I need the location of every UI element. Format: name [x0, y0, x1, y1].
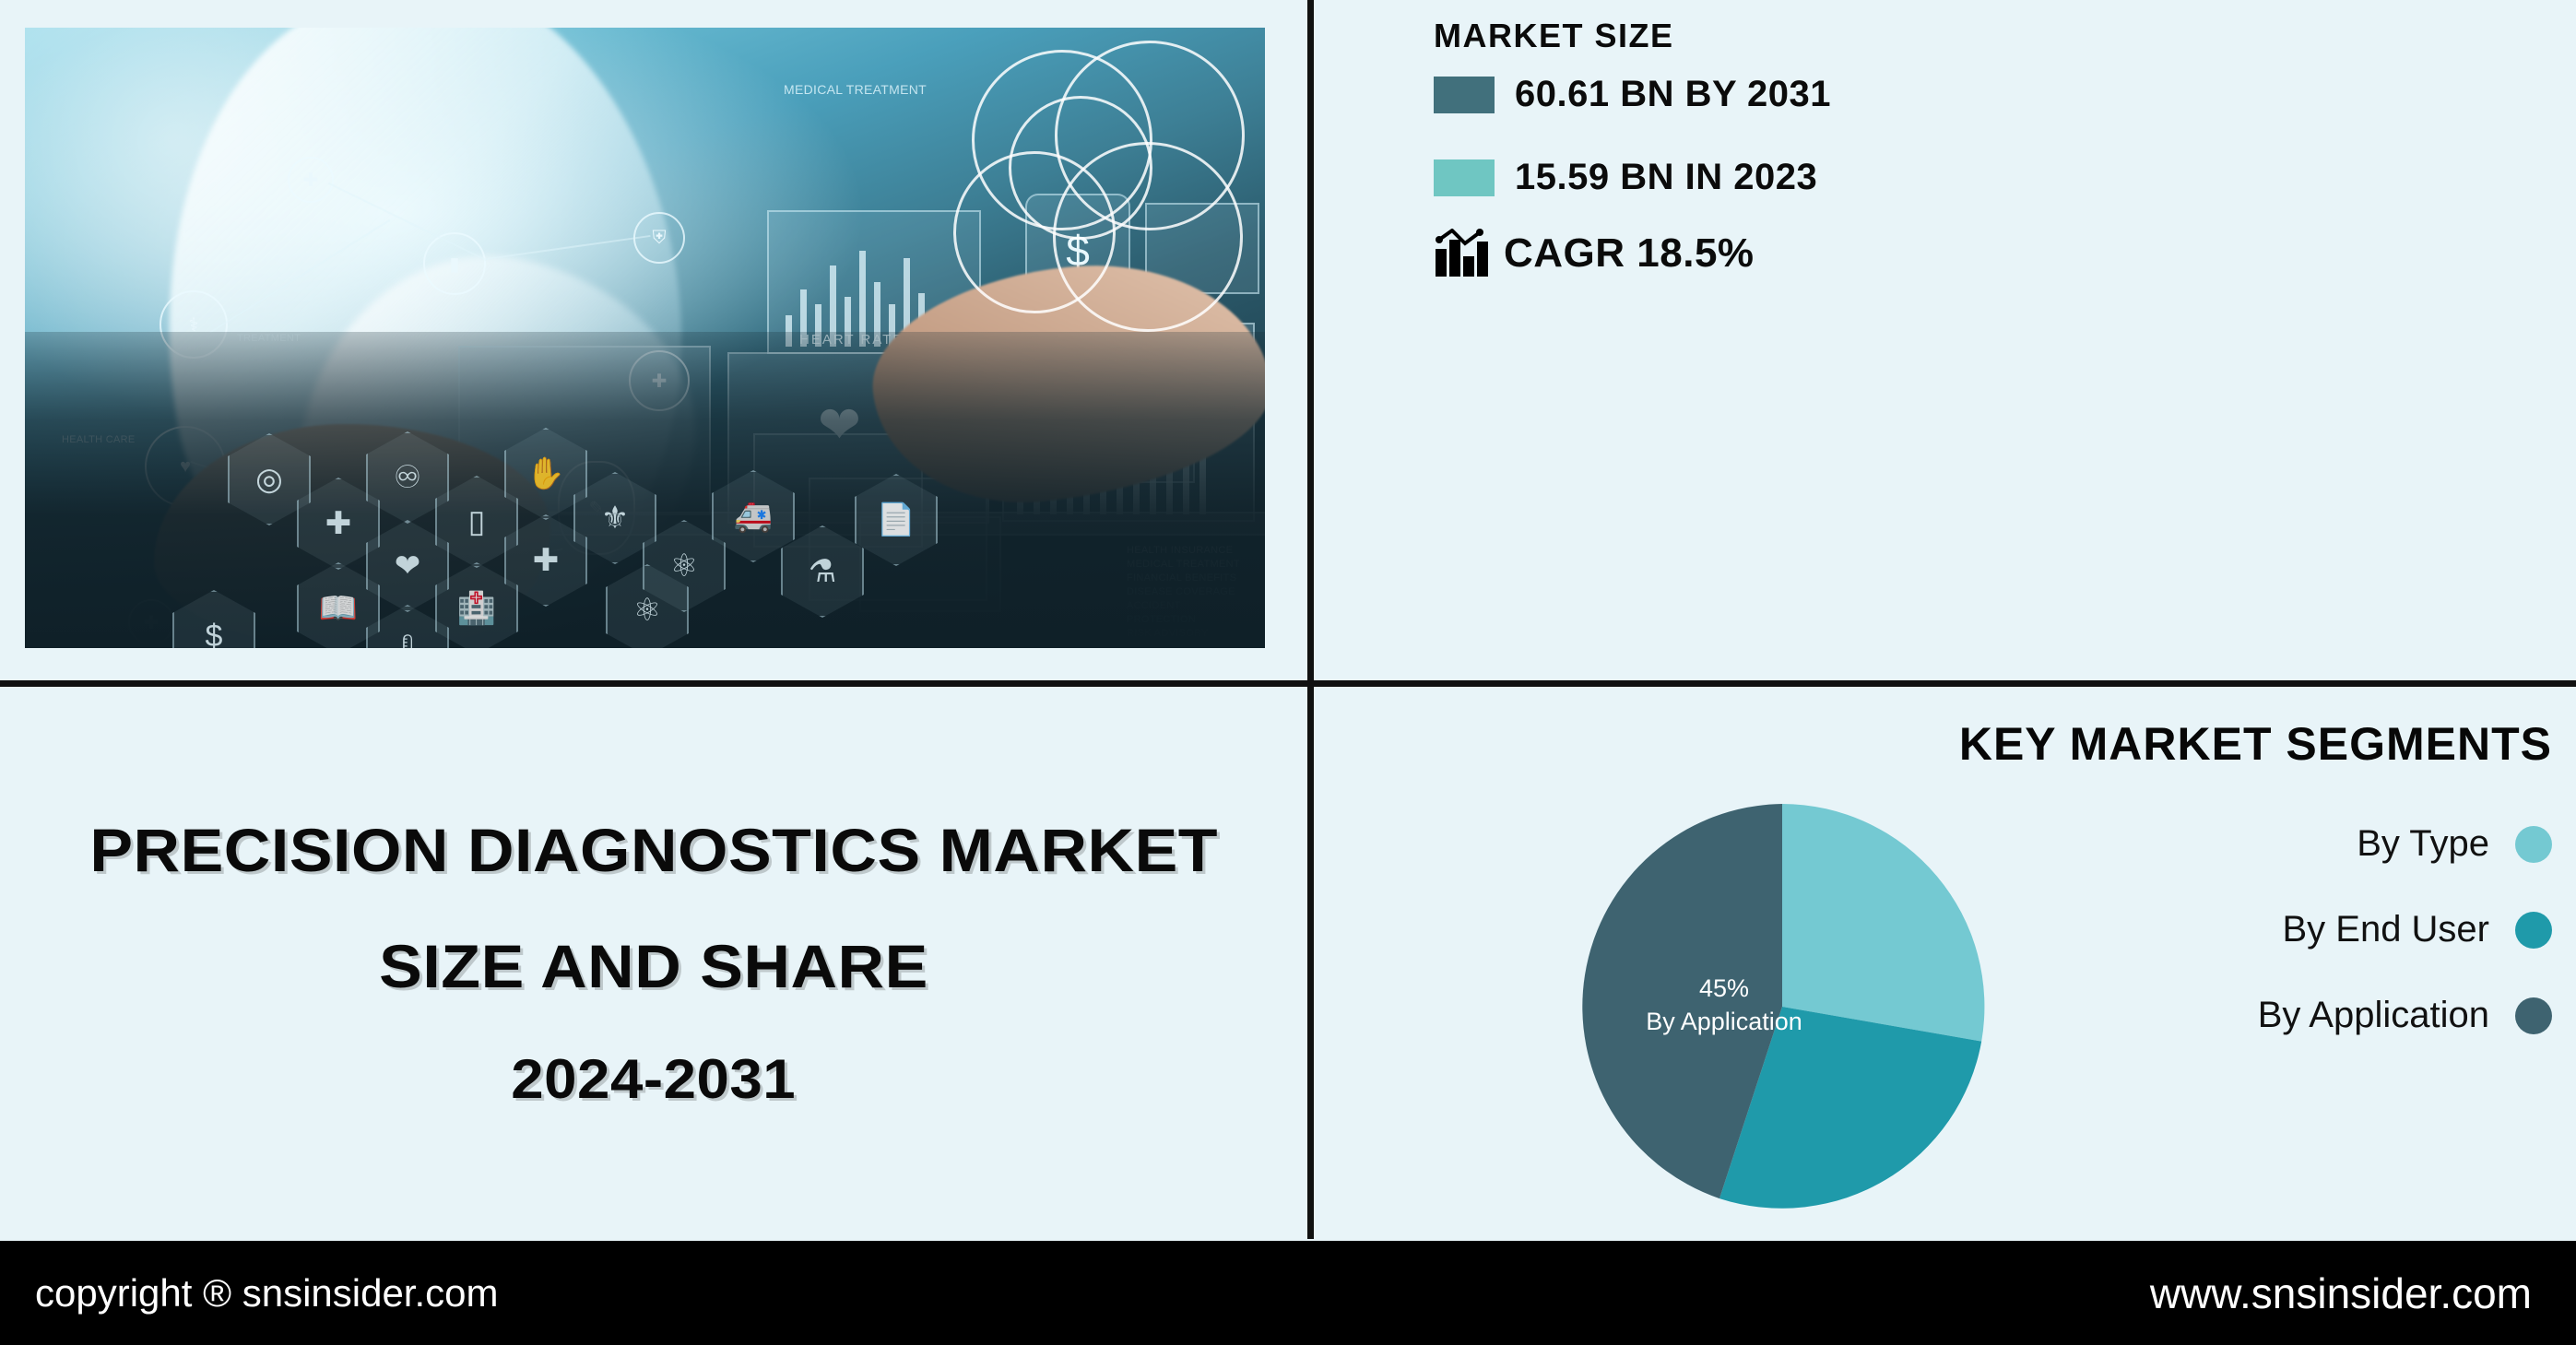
hex-dollar-icon: $ — [172, 590, 255, 648]
headline-pane: PRECISION DIAGNOSTICS MARKET SIZE AND SH… — [0, 690, 1307, 1235]
hex-icon-grid: ◎ ✚ ♾ ▯ ✋ ⚜ ❤ 🏥 ⚛ 🚑 📖 ✚ ⚛ 🌡 $ ⚗ 📄 — [89, 424, 1131, 648]
legend-label-by-type: By Type — [2357, 823, 2489, 865]
pie-slice-label: 45% By Application — [1627, 972, 1821, 1038]
bar-chart-trend-icon — [1434, 229, 1491, 278]
headline-line-2: SIZE AND SHARE — [379, 931, 928, 1001]
legend-item-by-application[interactable]: By Application — [2258, 995, 2552, 1036]
cagr-value: CAGR 18.5% — [1504, 230, 1755, 277]
segments-legend: By Type By End User By Application — [2258, 823, 2552, 1036]
market-size-value-2023: 15.59 BN IN 2023 — [1515, 157, 1817, 198]
legend-dot-by-type — [2515, 826, 2552, 863]
cagr-row: CAGR 18.5% — [1434, 229, 1755, 278]
market-size-pane: MARKET SIZE 60.61 BN BY 2031 15.59 BN IN… — [1314, 0, 2576, 680]
headline-line-1: PRECISION DIAGNOSTICS MARKET — [89, 815, 1218, 885]
legend-item-by-type[interactable]: By Type — [2357, 823, 2552, 865]
footer-copyright: copyright ® snsinsider.com — [35, 1271, 498, 1316]
legend-swatch-2031 — [1434, 77, 1495, 113]
legend-dot-by-end-user — [2515, 912, 2552, 949]
hero-photo: ✚ ▮ ⛨ ✚ ♥ ⚕ 🚑 ✎ ☉ ✚ HEALTH CARE TREATMEN… — [25, 28, 1265, 648]
decorative-circles — [944, 41, 1248, 345]
pie-label-percent: 45% — [1627, 972, 1821, 1005]
pie-label-name: By Application — [1627, 1005, 1821, 1038]
key-market-segments-pane: KEY MARKET SEGMENTS 45% By Application B… — [1314, 690, 2576, 1235]
legend-swatch-2023 — [1434, 159, 1495, 196]
segments-pie-chart: 45% By Application — [1574, 798, 1991, 1215]
legend-label-by-end-user: By End User — [2282, 909, 2489, 950]
headline-line-3: 2024-2031 — [512, 1047, 797, 1111]
market-size-value-2031: 60.61 BN BY 2031 — [1515, 74, 1831, 115]
horizontal-divider — [0, 680, 2576, 687]
legend-item-by-end-user[interactable]: By End User — [2282, 909, 2552, 950]
hex-report-icon: 📄 — [855, 474, 938, 566]
footer-bar: copyright ® snsinsider.com www.snsinside… — [0, 1241, 2576, 1345]
market-size-heading: MARKET SIZE — [1434, 17, 1674, 55]
node-capsule-icon: ▮ — [423, 232, 486, 295]
node-plus-icon: ✚ — [288, 157, 334, 203]
market-size-row-2031: 60.61 BN BY 2031 — [1434, 74, 1831, 115]
photo-label-medical: MEDICAL TREATMENT — [784, 83, 927, 97]
legend-dot-by-application — [2515, 997, 2552, 1034]
footer-website[interactable]: www.snsinsider.com — [2150, 1268, 2532, 1318]
legend-label-by-application: By Application — [2258, 995, 2489, 1036]
segments-title: KEY MARKET SEGMENTS — [1959, 717, 2552, 771]
vertical-divider — [1307, 0, 1314, 1239]
market-size-row-2023: 15.59 BN IN 2023 — [1434, 157, 1817, 198]
